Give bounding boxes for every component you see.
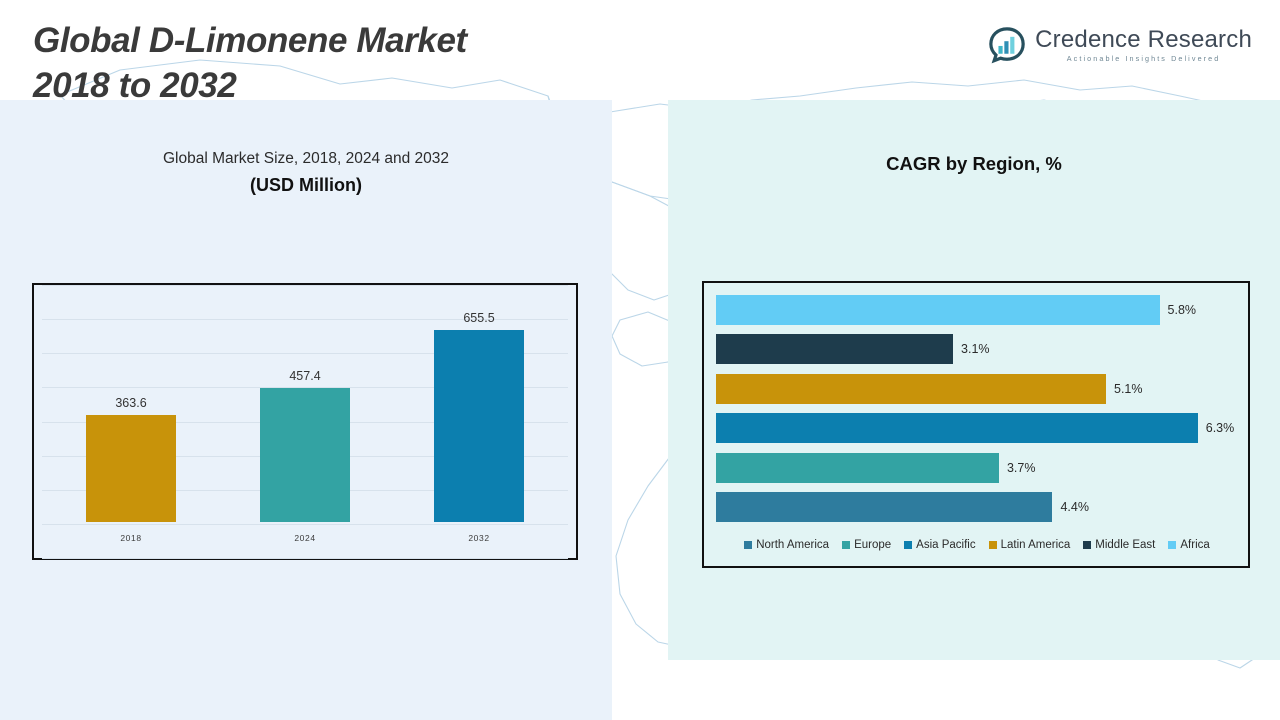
bar-value-label: 5.1% [1114, 382, 1143, 396]
bar[interactable] [716, 295, 1160, 325]
right-chart-caption: CAGR by Region, % [668, 153, 1280, 175]
bar-value-label: 457.4 [289, 369, 320, 383]
chart-legend: North AmericaEuropeAsia PacificLatin Ame… [716, 532, 1238, 558]
bar-row: 3.7% [716, 453, 1238, 483]
bar-value-label: 4.4% [1060, 500, 1089, 514]
gridline [42, 558, 568, 559]
vertical-bars: 363.6457.4655.5 [44, 299, 566, 522]
bar[interactable] [716, 492, 1052, 522]
title-line-2: 2018 to 2032 [33, 63, 673, 108]
cagr-by-region-bar-chart: 5.8%3.1%5.1%6.3%3.7%4.4% North AmericaEu… [702, 281, 1250, 568]
gridline [42, 524, 568, 525]
legend-swatch [842, 541, 850, 549]
bar-group: 655.5 [404, 299, 554, 522]
legend-item[interactable]: North America [744, 539, 829, 551]
bar[interactable] [716, 374, 1106, 404]
bar-group: 363.6 [56, 299, 206, 522]
x-axis-tick-label: 2024 [230, 533, 380, 543]
bar[interactable] [716, 334, 953, 364]
logo-company-name: Credence Research [1035, 27, 1252, 52]
bar-row: 5.1% [716, 374, 1238, 404]
x-axis-tick-labels: 201820242032 [44, 526, 566, 550]
legend-item[interactable]: Middle East [1083, 539, 1155, 551]
bar[interactable] [716, 453, 999, 483]
bar-value-label: 6.3% [1206, 421, 1235, 435]
legend-label: Africa [1180, 539, 1209, 551]
bar-value-label: 3.7% [1007, 461, 1036, 475]
logo-tagline: Actionable Insights Delivered [1035, 54, 1252, 64]
bar-row: 6.3% [716, 413, 1238, 443]
legend-swatch [904, 541, 912, 549]
legend-label: Middle East [1095, 539, 1155, 551]
speech-bubble-bar-chart-icon [988, 26, 1026, 64]
bar[interactable] [86, 415, 176, 522]
legend-label: Asia Pacific [916, 539, 975, 551]
market-size-bar-chart: 363.6457.4655.5 201820242032 [32, 283, 578, 560]
horizontal-bars: 5.8%3.1%5.1%6.3%3.7%4.4% [716, 295, 1238, 522]
legend-swatch [744, 541, 752, 549]
logo-text-block: Credence Research Actionable Insights De… [1035, 27, 1252, 64]
legend-swatch [1083, 541, 1091, 549]
legend-label: North America [756, 539, 829, 551]
legend-item[interactable]: Europe [842, 539, 891, 551]
bar-value-label: 5.8% [1168, 303, 1197, 317]
left-caption-line-2: (USD Million) [0, 172, 612, 198]
bar[interactable] [434, 330, 524, 522]
legend-label: Latin America [1001, 539, 1071, 551]
bar-group: 457.4 [230, 299, 380, 522]
legend-swatch [1168, 541, 1176, 549]
legend-label: Europe [854, 539, 891, 551]
left-caption-line-1: Global Market Size, 2018, 2024 and 2032 [0, 148, 612, 170]
page-title: Global D-Limonene Market 2018 to 2032 [33, 18, 673, 108]
bar-value-label: 363.6 [115, 396, 146, 410]
gridline [42, 285, 568, 286]
bar-row: 3.1% [716, 334, 1238, 364]
infographic-canvas: Global D-Limonene Market 2018 to 2032 Cr… [0, 0, 1280, 720]
legend-item[interactable]: Africa [1168, 539, 1209, 551]
legend-item[interactable]: Latin America [989, 539, 1071, 551]
x-axis-tick-label: 2018 [56, 533, 206, 543]
legend-item[interactable]: Asia Pacific [904, 539, 975, 551]
bar[interactable] [716, 413, 1198, 443]
left-chart-caption: Global Market Size, 2018, 2024 and 2032 … [0, 148, 612, 198]
bar-value-label: 655.5 [463, 311, 494, 325]
legend-swatch [989, 541, 997, 549]
bar-value-label: 3.1% [961, 342, 990, 356]
title-line-1: Global D-Limonene Market [33, 18, 673, 63]
bar-row: 5.8% [716, 295, 1238, 325]
x-axis-tick-label: 2032 [404, 533, 554, 543]
bar-row: 4.4% [716, 492, 1238, 522]
bar[interactable] [260, 388, 350, 522]
brand-logo: Credence Research Actionable Insights De… [988, 26, 1252, 64]
